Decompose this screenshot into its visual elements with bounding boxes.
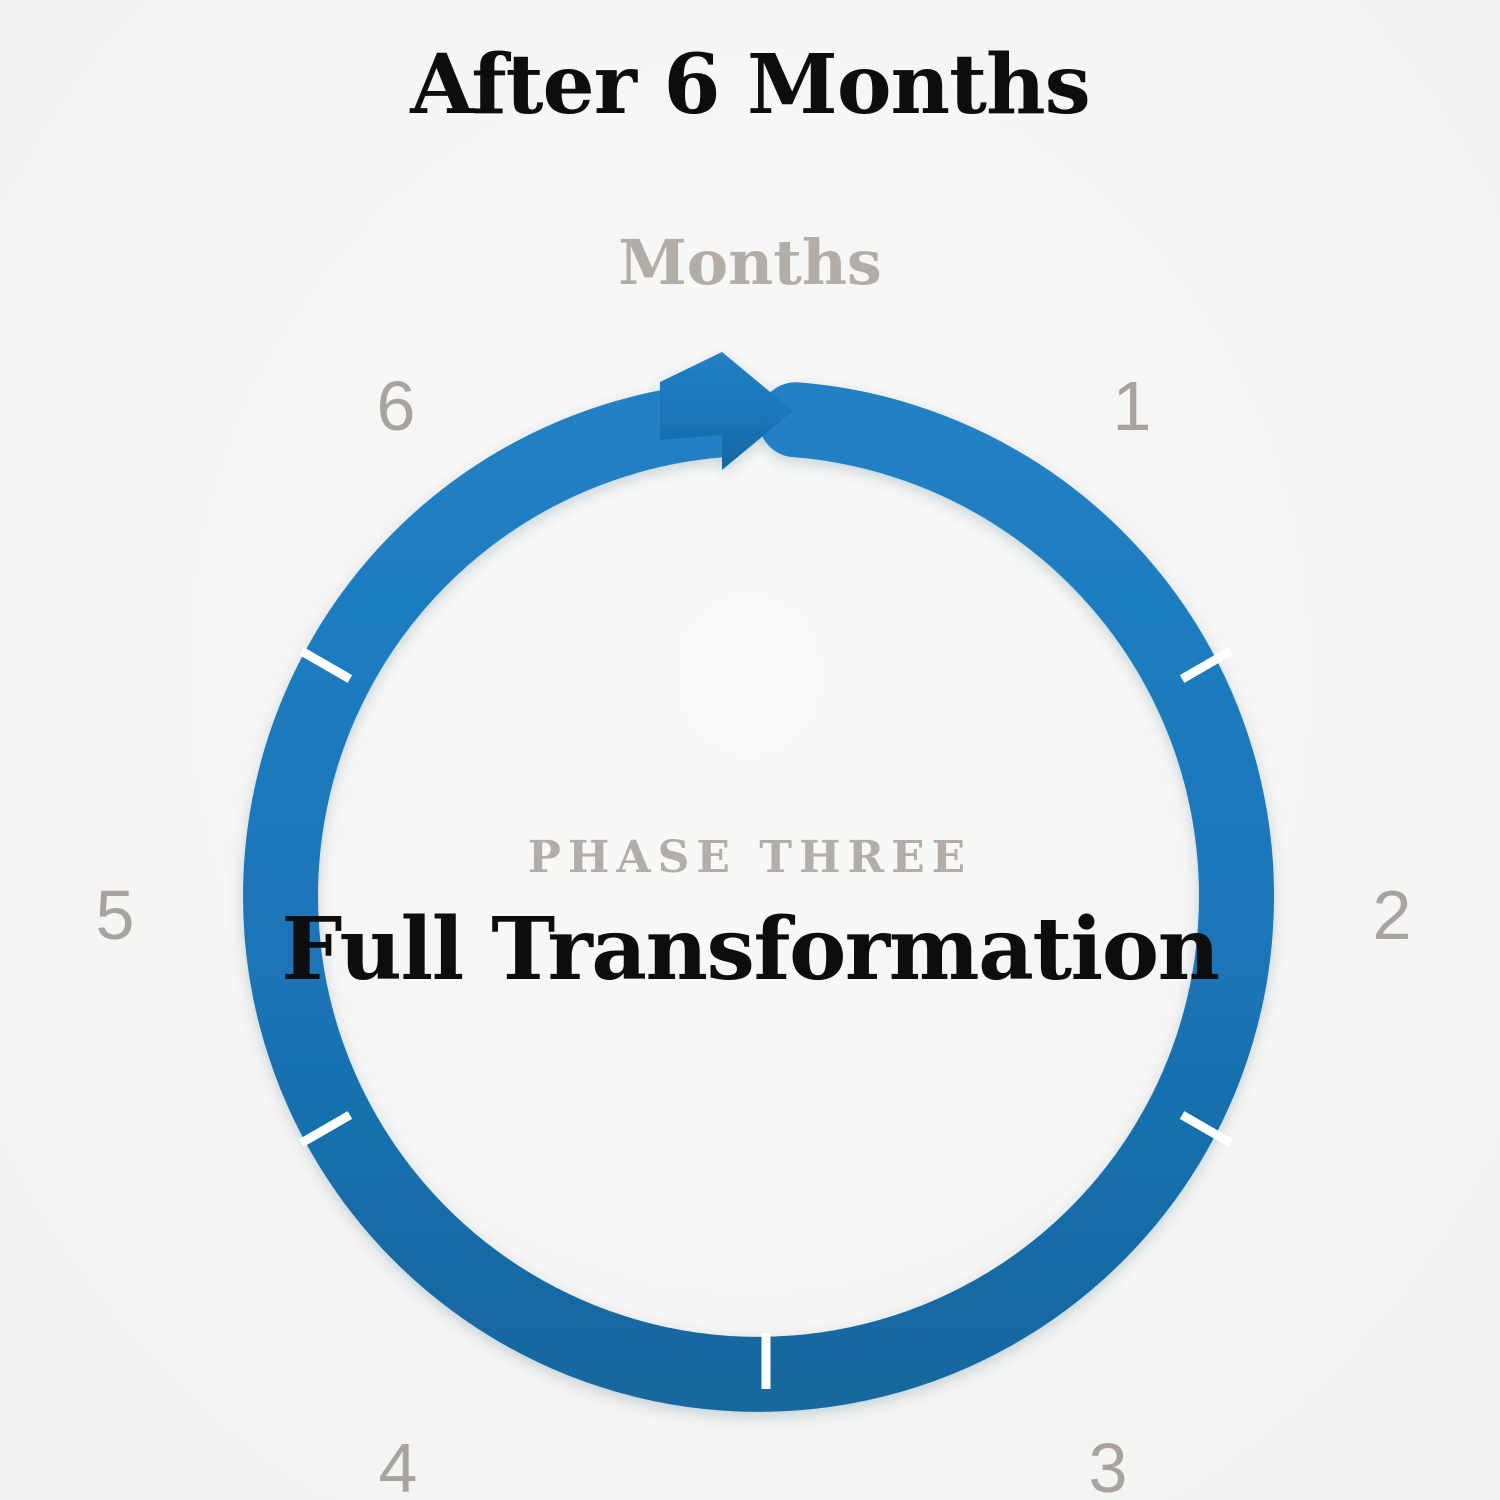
ring-arc-group — [281, 352, 1237, 1374]
ring-number-6: 6 — [341, 371, 451, 441]
infographic-canvas: After 6 Months Months — [0, 0, 1500, 1500]
ring-number-1: 1 — [1077, 371, 1187, 441]
circular-progress-ring — [0, 0, 1500, 1500]
ring-arc-path — [281, 420, 1237, 1375]
ring-number-5: 5 — [60, 880, 170, 950]
ring-number-2: 2 — [1337, 880, 1447, 950]
ring-number-3: 3 — [1053, 1433, 1163, 1500]
ring-number-4: 4 — [343, 1433, 453, 1500]
